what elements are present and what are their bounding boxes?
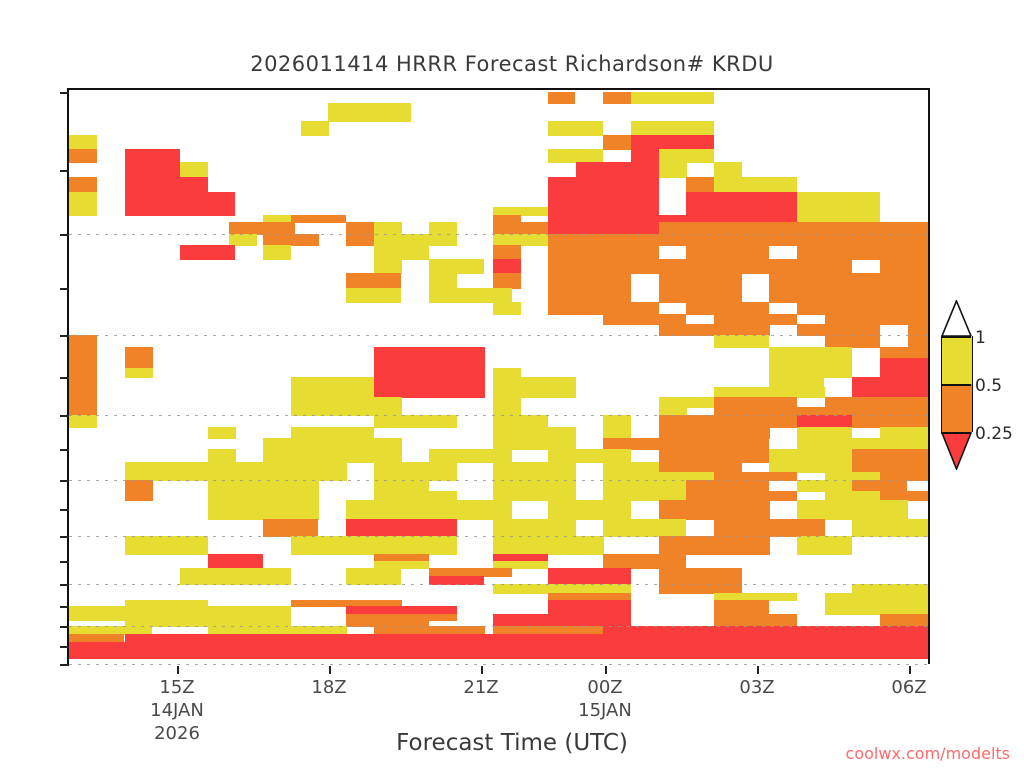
colorbar-tick-label: 0.5 [975, 376, 1002, 396]
x-axis-tick-label-line: 03Z [739, 676, 774, 699]
x-axis-tick-label-line: 21Z [463, 676, 498, 699]
x-axis-tick [329, 666, 331, 674]
colorbar-tick [941, 384, 971, 386]
colorbar-legend: 10.50.25 [941, 300, 1023, 480]
x-axis-tick [605, 666, 607, 674]
x-axis-tick-label: 06Z [891, 676, 926, 699]
x-axis-tick [909, 666, 911, 674]
colorbar-tick [941, 336, 971, 338]
x-axis-tick-label: 03Z [739, 676, 774, 699]
x-axis-tick-label-line: 15Z [150, 676, 204, 699]
x-axis-tick [481, 666, 483, 674]
x-axis-tick-label-line: 15JAN [578, 699, 632, 722]
x-axis-tick [757, 666, 759, 674]
colorbar-tick-label: 1 [975, 328, 986, 348]
colorbar-arrow-down [941, 432, 972, 470]
colorbar-segment [941, 384, 973, 432]
x-axis-tick-label-line: 14JAN [150, 699, 204, 722]
colorbar-arrow-up-outline [941, 300, 972, 337]
x-axis-tick-label: 18Z [311, 676, 346, 699]
colorbar-tick [941, 432, 971, 434]
watermark: coolwx.com/modelts [0, 744, 1010, 763]
x-axis-tick-label-line: 18Z [311, 676, 346, 699]
chart-title: 2026011414 HRRR Forecast Richardson# KRD… [0, 52, 1024, 76]
chart-canvas: 2026011414 HRRR Forecast Richardson# KRD… [0, 0, 1024, 768]
x-axis-tick-label-line: 00Z [578, 676, 632, 699]
x-axis-tick-label-line: 06Z [891, 676, 926, 699]
colorbar-segment [941, 336, 973, 384]
gridline [69, 664, 928, 665]
x-axis-tick-label: 21Z [463, 676, 498, 699]
y-axis-labels: 2002503003504004505005506006507007508008… [0, 88, 1024, 664]
x-axis-tick [177, 666, 179, 674]
x-axis-tick-label: 00Z15JAN [578, 676, 632, 722]
colorbar-tick-label: 0.25 [975, 424, 1013, 444]
